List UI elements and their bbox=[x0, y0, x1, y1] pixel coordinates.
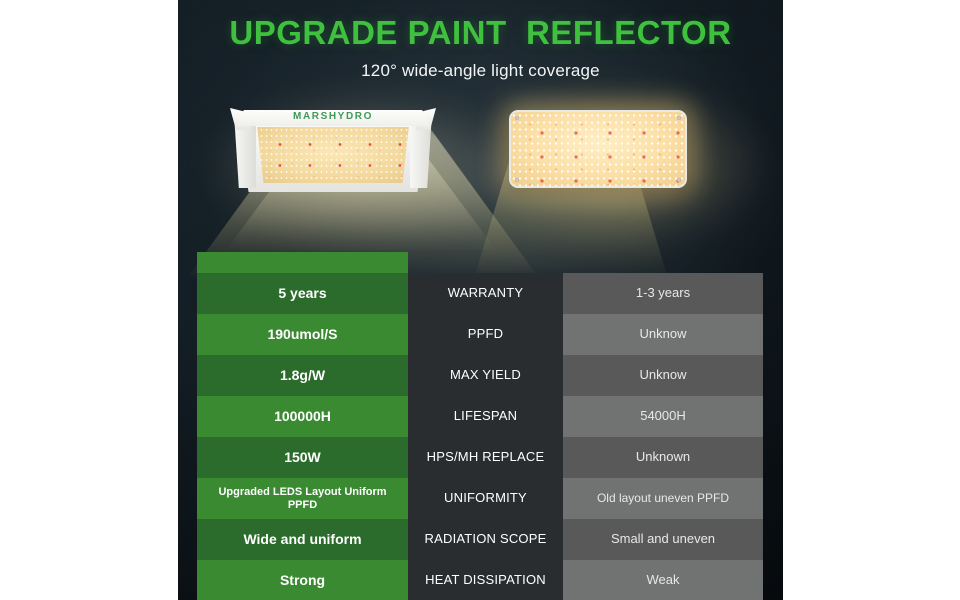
table-row: 190umol/SPPFDUnknow bbox=[197, 314, 782, 355]
led-board-right bbox=[509, 110, 687, 188]
led-red-diodes bbox=[254, 127, 412, 183]
table-row: Wide and uniformRADIATION SCOPESmall and… bbox=[197, 519, 782, 560]
led-board-left bbox=[254, 127, 412, 183]
cell-others: 54000H bbox=[563, 396, 763, 437]
cell-others: Old layout uneven PPFD bbox=[563, 478, 763, 519]
upgraded-reflector-lamp: MARSHYDRO bbox=[230, 108, 436, 192]
page-subtitle: 120° wide-angle light coverage bbox=[178, 61, 783, 81]
cell-spec-label: LIFESPAN bbox=[408, 396, 563, 437]
table-row: 5 yearsWARRANTY1-3 years bbox=[197, 273, 782, 314]
cell-ours: 190umol/S bbox=[197, 314, 408, 355]
board-screw-br bbox=[677, 178, 681, 182]
board-screw-bl bbox=[515, 178, 519, 182]
cell-spec-label: RADIATION SCOPE bbox=[408, 519, 563, 560]
table-header-strip bbox=[197, 252, 782, 273]
cell-ours: 100000H bbox=[197, 396, 408, 437]
cell-spec-label: PPFD bbox=[408, 314, 563, 355]
table-row: 100000HLIFESPAN54000H bbox=[197, 396, 782, 437]
cell-spec-label: HPS/MH REPLACE bbox=[408, 437, 563, 478]
table-row: Upgraded LEDS Layout Uniform PPFDUNIFORM… bbox=[197, 478, 782, 519]
table-row: 1.8g/WMAX YIELDUnknow bbox=[197, 355, 782, 396]
page-title: UPGRADE PAINT REFLECTOR bbox=[178, 14, 783, 52]
cell-others: Small and uneven bbox=[563, 519, 763, 560]
board-screw-tl bbox=[515, 116, 519, 120]
cell-spec-label: UNIFORMITY bbox=[408, 478, 563, 519]
cell-ours: Strong bbox=[197, 560, 408, 600]
cell-ours: Wide and uniform bbox=[197, 519, 408, 560]
cell-spec-label: MAX YIELD bbox=[408, 355, 563, 396]
cell-others: Unknow bbox=[563, 355, 763, 396]
dark-panel: UPGRADE PAINT REFLECTOR 120° wide-angle … bbox=[178, 0, 783, 600]
cell-others: Unknown bbox=[563, 437, 763, 478]
header-block: UPGRADE PAINT REFLECTOR 120° wide-angle … bbox=[178, 14, 783, 81]
cell-others: Unknow bbox=[563, 314, 763, 355]
header-strip-ours bbox=[197, 252, 408, 273]
table-row: StrongHEAT DISSIPATIONWeak bbox=[197, 560, 782, 600]
board-screw-tr bbox=[677, 116, 681, 120]
cell-ours: Upgraded LEDS Layout Uniform PPFD bbox=[197, 478, 408, 519]
table-body: 5 yearsWARRANTY1-3 years190umol/SPPFDUnk… bbox=[197, 273, 782, 600]
cell-others: Weak bbox=[563, 560, 763, 600]
table-row: 150WHPS/MH REPLACEUnknown bbox=[197, 437, 782, 478]
cell-spec-label: WARRANTY bbox=[408, 273, 563, 314]
header-strip-others bbox=[563, 252, 763, 273]
cell-ours: 5 years bbox=[197, 273, 408, 314]
led-red-diodes-right bbox=[511, 112, 685, 186]
cell-ours: 150W bbox=[197, 437, 408, 478]
infographic-canvas: UPGRADE PAINT REFLECTOR 120° wide-angle … bbox=[0, 0, 960, 600]
standard-flat-lamp bbox=[509, 110, 687, 188]
header-strip-spec bbox=[408, 252, 563, 273]
cell-spec-label: HEAT DISSIPATION bbox=[408, 560, 563, 600]
cell-others: 1-3 years bbox=[563, 273, 763, 314]
cell-ours: 1.8g/W bbox=[197, 355, 408, 396]
comparison-table: 5 yearsWARRANTY1-3 years190umol/SPPFDUnk… bbox=[197, 252, 782, 600]
brand-logo-text: MARSHYDRO bbox=[230, 111, 436, 122]
